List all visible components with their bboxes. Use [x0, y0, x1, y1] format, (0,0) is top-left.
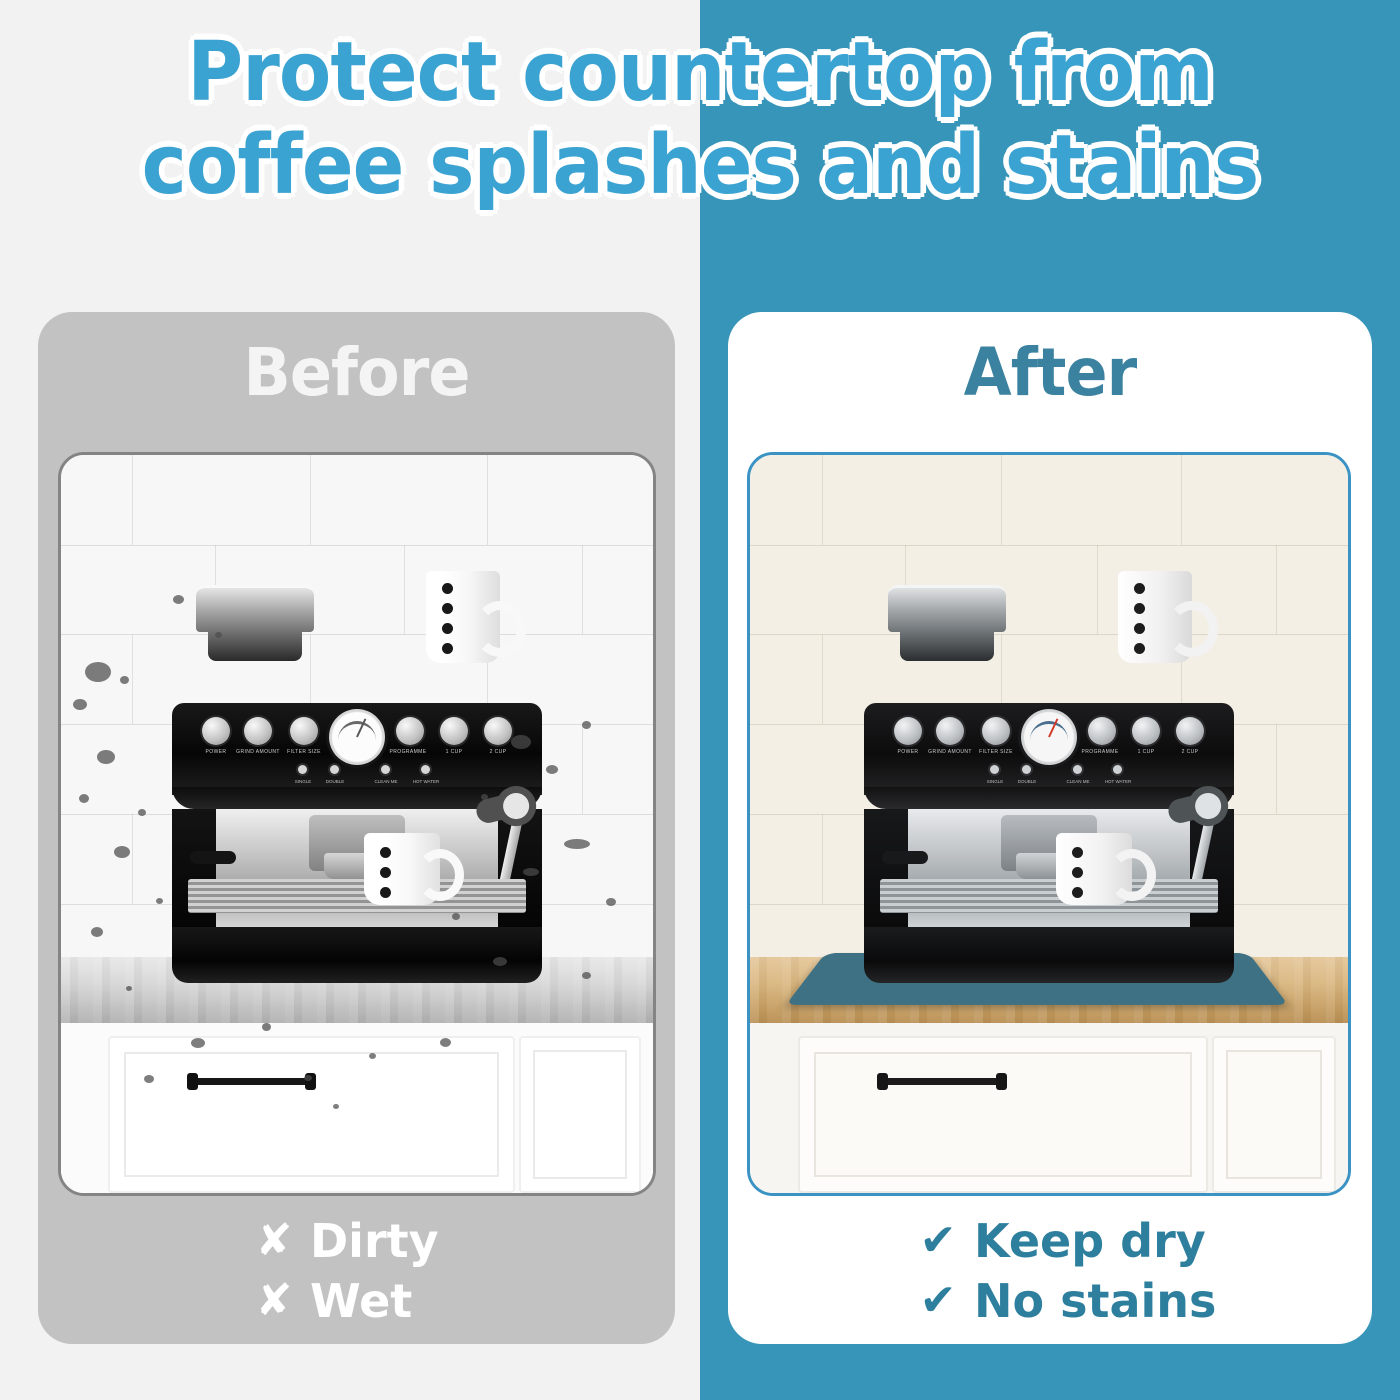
bullet-item: ✔ Keep dry — [902, 1218, 1362, 1264]
panel-before: Before — [38, 312, 675, 1344]
bullet-label: Wet — [310, 1278, 412, 1324]
cabinet-door — [108, 1036, 515, 1193]
bullet-item: ✘ Wet — [238, 1278, 638, 1324]
bullet-label: Keep dry — [974, 1218, 1206, 1264]
espresso-machine: POWER GRIND AMOUNT FILTER SIZE PROGRAMME… — [172, 703, 542, 983]
coffee-cup — [1056, 833, 1132, 905]
cabinet-handle-icon — [191, 1078, 312, 1085]
cabinet-door-secondary — [519, 1036, 641, 1193]
check-icon: ✔ — [902, 1279, 974, 1323]
coffee-cup — [364, 833, 440, 905]
photo-before: POWER GRIND AMOUNT FILTER SIZE PROGRAMME… — [58, 452, 656, 1196]
machine-control-panel: POWER GRIND AMOUNT FILTER SIZE PROGRAMME… — [864, 703, 1234, 795]
pressure-gauge — [329, 709, 385, 765]
machine-body — [172, 809, 542, 927]
cabinet-door-secondary — [1212, 1036, 1336, 1193]
espresso-machine: POWER GRIND AMOUNT FILTER SIZE PROGRAMME… — [864, 703, 1234, 983]
cabinet-door — [798, 1036, 1209, 1193]
machine-base — [864, 927, 1234, 983]
machine-base — [172, 927, 542, 983]
mug-on-top — [1118, 571, 1192, 663]
page-headline: Protect countertop from coffee splashes … — [49, 26, 1351, 213]
drip-tray — [188, 879, 526, 913]
panel-after: After — [728, 312, 1372, 1344]
bullets-before: ✘ Dirty ✘ Wet — [238, 1204, 638, 1338]
bullet-label: No stains — [974, 1278, 1216, 1324]
drip-tray — [880, 879, 1218, 913]
machine-control-panel: POWER GRIND AMOUNT FILTER SIZE PROGRAMME… — [172, 703, 542, 795]
bullet-item: ✘ Dirty — [238, 1218, 638, 1264]
bullets-after: ✔ Keep dry ✔ No stains — [902, 1204, 1362, 1338]
scene-after: POWER GRIND AMOUNT FILTER SIZE PROGRAMME… — [750, 455, 1348, 1193]
panel-before-title: Before — [57, 340, 656, 406]
bullet-label: Dirty — [310, 1218, 439, 1264]
cabinets — [750, 1023, 1348, 1193]
photo-after: POWER GRIND AMOUNT FILTER SIZE PROGRAMME… — [747, 452, 1351, 1196]
cabinets — [61, 1023, 653, 1193]
machine-body — [864, 809, 1234, 927]
cross-icon: ✘ — [238, 1279, 310, 1323]
scene-before: POWER GRIND AMOUNT FILTER SIZE PROGRAMME… — [61, 455, 653, 1193]
pressure-gauge — [1021, 709, 1077, 765]
check-icon: ✔ — [902, 1219, 974, 1263]
bullet-item: ✔ No stains — [902, 1278, 1362, 1324]
panel-after-title: After — [747, 340, 1352, 406]
cabinet-handle-icon — [881, 1078, 1003, 1085]
mug-on-top — [426, 571, 500, 663]
cross-icon: ✘ — [238, 1219, 310, 1263]
